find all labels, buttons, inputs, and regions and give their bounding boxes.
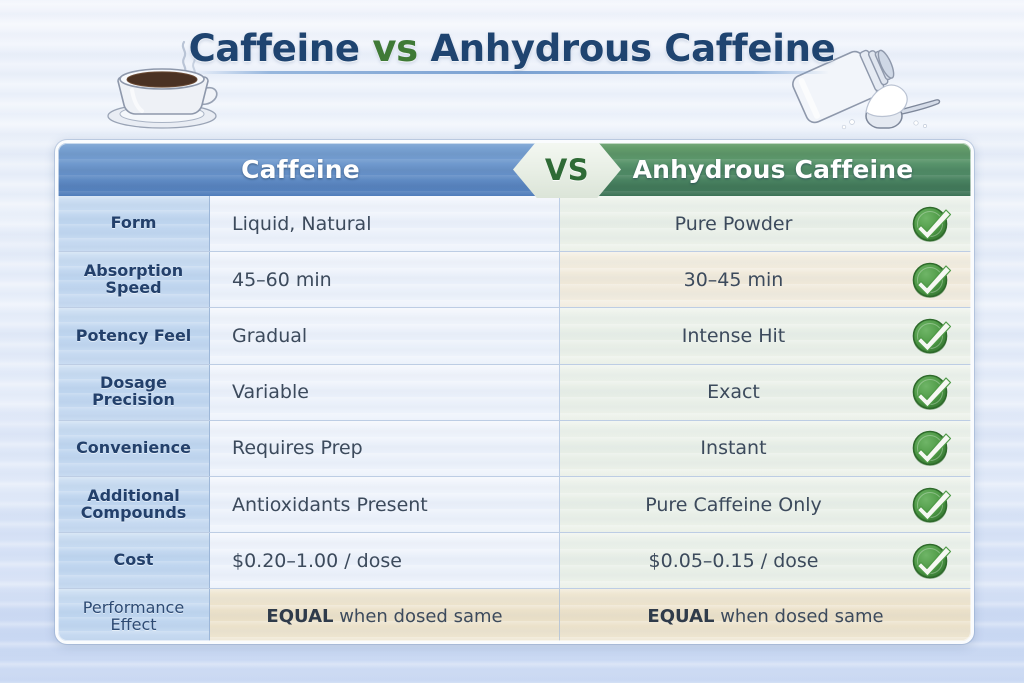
caffeine-value-text: Antioxidants Present (232, 494, 428, 516)
comparison-table: Caffeine Anhydrous Caffeine VS FormLiqui… (55, 140, 974, 644)
page-title-part2: Anhydrous Caffeine (430, 27, 835, 70)
row-label-text: Dosage Precision (63, 375, 204, 409)
row-label: Additional Compounds (58, 477, 210, 532)
check-mark-icon (909, 370, 953, 414)
anhydrous-value-text: Pure Powder (675, 213, 793, 235)
equal-emphasis: EQUAL (266, 606, 333, 627)
table-row: Potency FeelGradualIntense Hit (58, 307, 971, 363)
anhydrous-value-text: Exact (707, 381, 760, 403)
caffeine-value-text: Requires Prep (232, 437, 363, 459)
anhydrous-value-cell: Pure Powder (560, 196, 971, 251)
anhydrous-value-cell: Instant (560, 421, 971, 476)
anhydrous-value-cell: Intense Hit (560, 308, 971, 363)
caffeine-value-cell: $0.20–1.00 / dose (210, 533, 560, 588)
anhydrous-value-cell: Exact (560, 365, 971, 420)
table-row: Cost$0.20–1.00 / dose$0.05–0.15 / dose (58, 532, 971, 588)
caffeine-value-cell: Liquid, Natural (210, 196, 560, 251)
anhydrous-value-cell: 30–45 min (560, 252, 971, 307)
table-row: ConvenienceRequires PrepInstant (58, 420, 971, 476)
check-mark-icon (909, 539, 953, 583)
check-mark-icon (909, 483, 953, 527)
row-label-text: Potency Feel (76, 328, 192, 345)
table-header-anhydrous-label: Anhydrous Caffeine (633, 155, 914, 184)
anhydrous-value-cell: Pure Caffeine Only (560, 477, 971, 532)
row-label-text: Performance Effect (63, 600, 204, 634)
page-title-vs: vs (372, 27, 418, 70)
caffeine-value-text: Variable (232, 381, 309, 403)
vs-badge-label: VS (545, 153, 589, 187)
row-label-text: Additional Compounds (63, 488, 204, 522)
anhydrous-value-cell: $0.05–0.15 / dose (560, 533, 971, 588)
row-label: Absorption Speed (58, 252, 210, 307)
row-label: Performance Effect (58, 589, 210, 644)
table-row: Dosage PrecisionVariableExact (58, 364, 971, 420)
caffeine-value-cell: Antioxidants Present (210, 477, 560, 532)
row-label-text: Convenience (76, 440, 191, 457)
check-mark-icon (909, 202, 953, 246)
anhydrous-value-text: $0.05–0.15 / dose (649, 550, 819, 572)
page-title-part1: Caffeine (189, 27, 360, 70)
caffeine-value-text: Liquid, Natural (232, 213, 371, 235)
table-row: Absorption Speed45–60 min30–45 min (58, 251, 971, 307)
row-label: Cost (58, 533, 210, 588)
anhydrous-value-text: 30–45 min (684, 269, 784, 291)
page-title: Caffeine vs Anhydrous Caffeine (189, 27, 836, 70)
check-mark-icon (909, 258, 953, 302)
caffeine-value-cell: Requires Prep (210, 421, 560, 476)
caffeine-value-cell: Variable (210, 365, 560, 420)
row-label: Dosage Precision (58, 365, 210, 420)
check-mark-icon (909, 426, 953, 470)
page-title-area: Caffeine vs Anhydrous Caffeine (0, 18, 1024, 78)
caffeine-value-cell: EQUAL when dosed same (210, 589, 560, 644)
table-header-caffeine: Caffeine (58, 143, 559, 196)
table-row: Additional CompoundsAntioxidants Present… (58, 476, 971, 532)
caffeine-value-text: 45–60 min (232, 269, 332, 291)
anhydrous-value-text: Instant (700, 437, 766, 459)
row-label-text: Absorption Speed (63, 263, 204, 297)
check-mark-icon (909, 314, 953, 358)
caffeine-value-text: Gradual (232, 325, 307, 347)
row-label-text: Cost (114, 552, 154, 569)
table-header-caffeine-label: Caffeine (241, 155, 360, 184)
caffeine-value-text: EQUAL when dosed same (266, 606, 502, 627)
anhydrous-value-cell: EQUAL when dosed same (560, 589, 971, 644)
row-label: Form (58, 196, 210, 251)
table-row: FormLiquid, NaturalPure Powder (58, 196, 971, 251)
anhydrous-value-text: Intense Hit (682, 325, 785, 347)
row-label: Convenience (58, 421, 210, 476)
table-header-row: Caffeine Anhydrous Caffeine VS (58, 143, 971, 196)
anhydrous-value-text: Pure Caffeine Only (645, 494, 822, 516)
table-row: Performance EffectEQUAL when dosed sameE… (58, 588, 971, 644)
row-label: Potency Feel (58, 308, 210, 363)
row-label-text: Form (111, 215, 157, 232)
caffeine-value-text: $0.20–1.00 / dose (232, 550, 402, 572)
caffeine-value-cell: 45–60 min (210, 252, 560, 307)
anhydrous-value-text: EQUAL when dosed same (647, 606, 883, 627)
equal-emphasis: EQUAL (647, 606, 714, 627)
caffeine-value-cell: Gradual (210, 308, 560, 363)
vs-badge: VS (513, 141, 621, 198)
table-body: FormLiquid, NaturalPure Powder Absorptio… (58, 196, 971, 644)
